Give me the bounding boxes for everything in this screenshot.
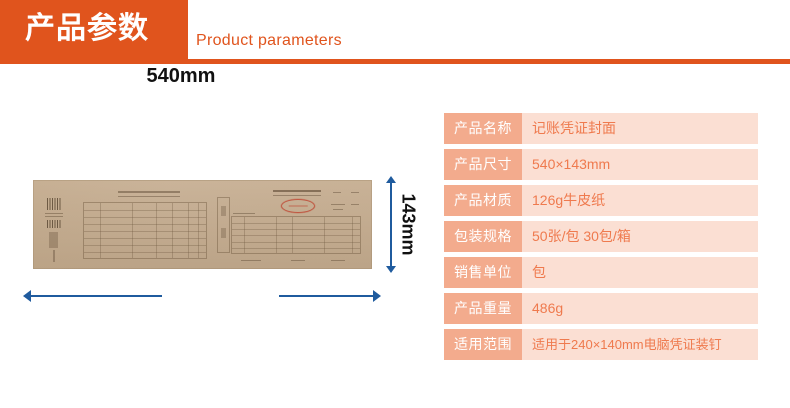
product-photo-area: 143mm 540mm (0, 64, 430, 408)
table-row: 包装规格 50张/包 30包/箱 (444, 221, 758, 252)
table-row: 产品材质 126g牛皮纸 (444, 185, 758, 216)
spec-value-application: 适用于240×140mm电脑凭证装钉 (522, 329, 758, 360)
width-dimension-arrow (23, 284, 381, 308)
arrow-head-right-icon (373, 290, 381, 302)
spec-label-weight: 产品重量 (444, 293, 522, 324)
arrow-shaft (390, 182, 392, 267)
left-form-grid (83, 202, 207, 259)
spec-value-packaging: 50张/包 30包/箱 (522, 221, 758, 252)
code-stem (53, 250, 55, 262)
table-row: 适用范围 适用于240×140mm电脑凭证装钉 (444, 329, 758, 360)
cover-title-subtext (273, 195, 321, 196)
field-line (333, 192, 341, 193)
spec-value-material: 126g牛皮纸 (522, 185, 758, 216)
page-title-cn: 产品参数 (25, 12, 175, 46)
field-line (333, 209, 343, 210)
form-caption-subline (118, 196, 180, 197)
table-row: 产品尺寸 540×143mm (444, 149, 758, 180)
table-row: 销售单位 包 (444, 257, 758, 288)
spec-label-product-name: 产品名称 (444, 113, 522, 144)
page-header: 产品参数 Product parameters (0, 0, 790, 64)
spine-mark (221, 206, 226, 216)
spec-value-product-size: 540×143mm (522, 149, 758, 180)
arrow-shaft-left (30, 295, 162, 297)
arrow-head-down-icon (386, 266, 396, 273)
spec-value-weight: 486g (522, 293, 758, 324)
product-image (33, 180, 372, 269)
signature-line (241, 260, 261, 261)
height-dimension-text: 143mm (398, 193, 419, 255)
spec-label-application: 适用范围 (444, 329, 522, 360)
spec-value-product-name: 记账凭证封面 (522, 113, 758, 144)
table-row: 产品重量 486g (444, 293, 758, 324)
form-caption-line (118, 191, 180, 193)
right-form-grid (231, 216, 361, 254)
red-stamp-icon (281, 199, 315, 213)
field-line (331, 204, 345, 205)
spec-label-sales-unit: 销售单位 (444, 257, 522, 288)
width-dimension-label: 540mm (139, 64, 223, 88)
arrow-shaft-right (279, 295, 374, 297)
signature-line (291, 260, 305, 261)
code-block (49, 232, 58, 248)
height-dimension-arrow (386, 176, 396, 273)
form-header-line (233, 213, 255, 214)
product-spec-table: 产品名称 记账凭证封面 产品尺寸 540×143mm 产品材质 126g牛皮纸 … (444, 113, 758, 360)
height-dimension-label: 143mm (396, 176, 420, 273)
micro-line (45, 213, 63, 214)
spine-mark (221, 228, 226, 238)
cover-title-text (273, 190, 321, 192)
field-line (351, 204, 359, 205)
signature-line (331, 260, 345, 261)
spec-label-product-size: 产品尺寸 (444, 149, 522, 180)
spec-label-material: 产品材质 (444, 185, 522, 216)
table-row: 产品名称 记账凭证封面 (444, 113, 758, 144)
micro-line (45, 216, 63, 217)
page-title-en: Product parameters (196, 32, 342, 50)
spec-value-sales-unit: 包 (522, 257, 758, 288)
field-line (351, 192, 359, 193)
spec-label-packaging: 包装规格 (444, 221, 522, 252)
barcode-strip-icon (47, 198, 61, 210)
barcode-strip-icon (47, 220, 61, 228)
